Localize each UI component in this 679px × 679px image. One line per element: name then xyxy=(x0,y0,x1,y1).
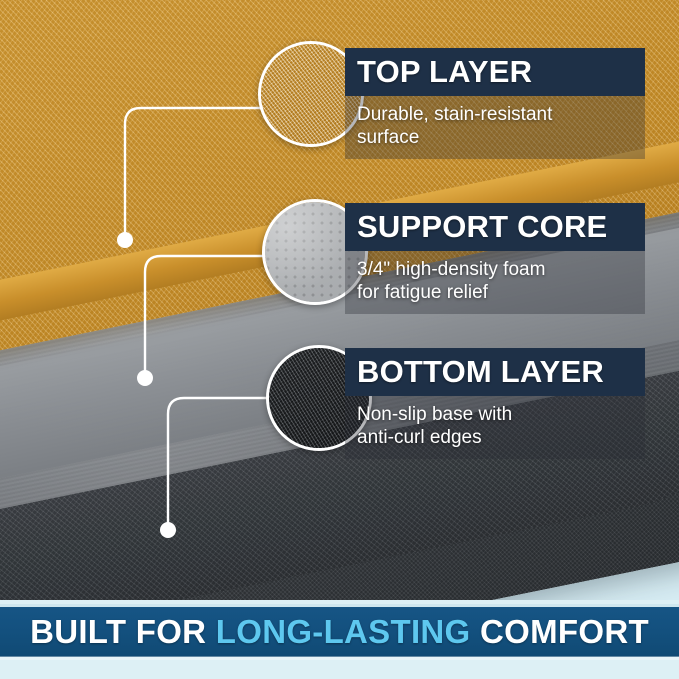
callout-description-support-core: 3/4" high-density foam for fatigue relie… xyxy=(345,251,645,314)
infographic-canvas: TOP LAYER Durable, stain-resistant surfa… xyxy=(0,0,679,679)
callout-title-bottom-layer: BOTTOM LAYER xyxy=(345,348,645,396)
callout-support-core: SUPPORT CORE 3/4" high-density foam for … xyxy=(345,203,645,314)
callout-description-bottom-layer: Non-slip base with anti-curl edges xyxy=(345,396,645,459)
callout-top-layer: TOP LAYER Durable, stain-resistant surfa… xyxy=(345,48,645,159)
banner-text-after: COMFORT xyxy=(471,613,649,650)
banner-text-before: BUILT FOR xyxy=(30,613,216,650)
banner-text-highlight: LONG-LASTING xyxy=(216,613,471,650)
banner-bottom-rule xyxy=(0,657,679,660)
bottom-banner: BUILT FOR LONG-LASTING COMFORT xyxy=(0,607,679,657)
callout-bottom-layer: BOTTOM LAYER Non-slip base with anti-cur… xyxy=(345,348,645,459)
callout-title-top-layer: TOP LAYER xyxy=(345,48,645,96)
callout-title-support-core: SUPPORT CORE xyxy=(345,203,645,251)
banner-headline: BUILT FOR LONG-LASTING COMFORT xyxy=(30,613,649,651)
callout-description-top-layer: Durable, stain-resistant surface xyxy=(345,96,645,159)
